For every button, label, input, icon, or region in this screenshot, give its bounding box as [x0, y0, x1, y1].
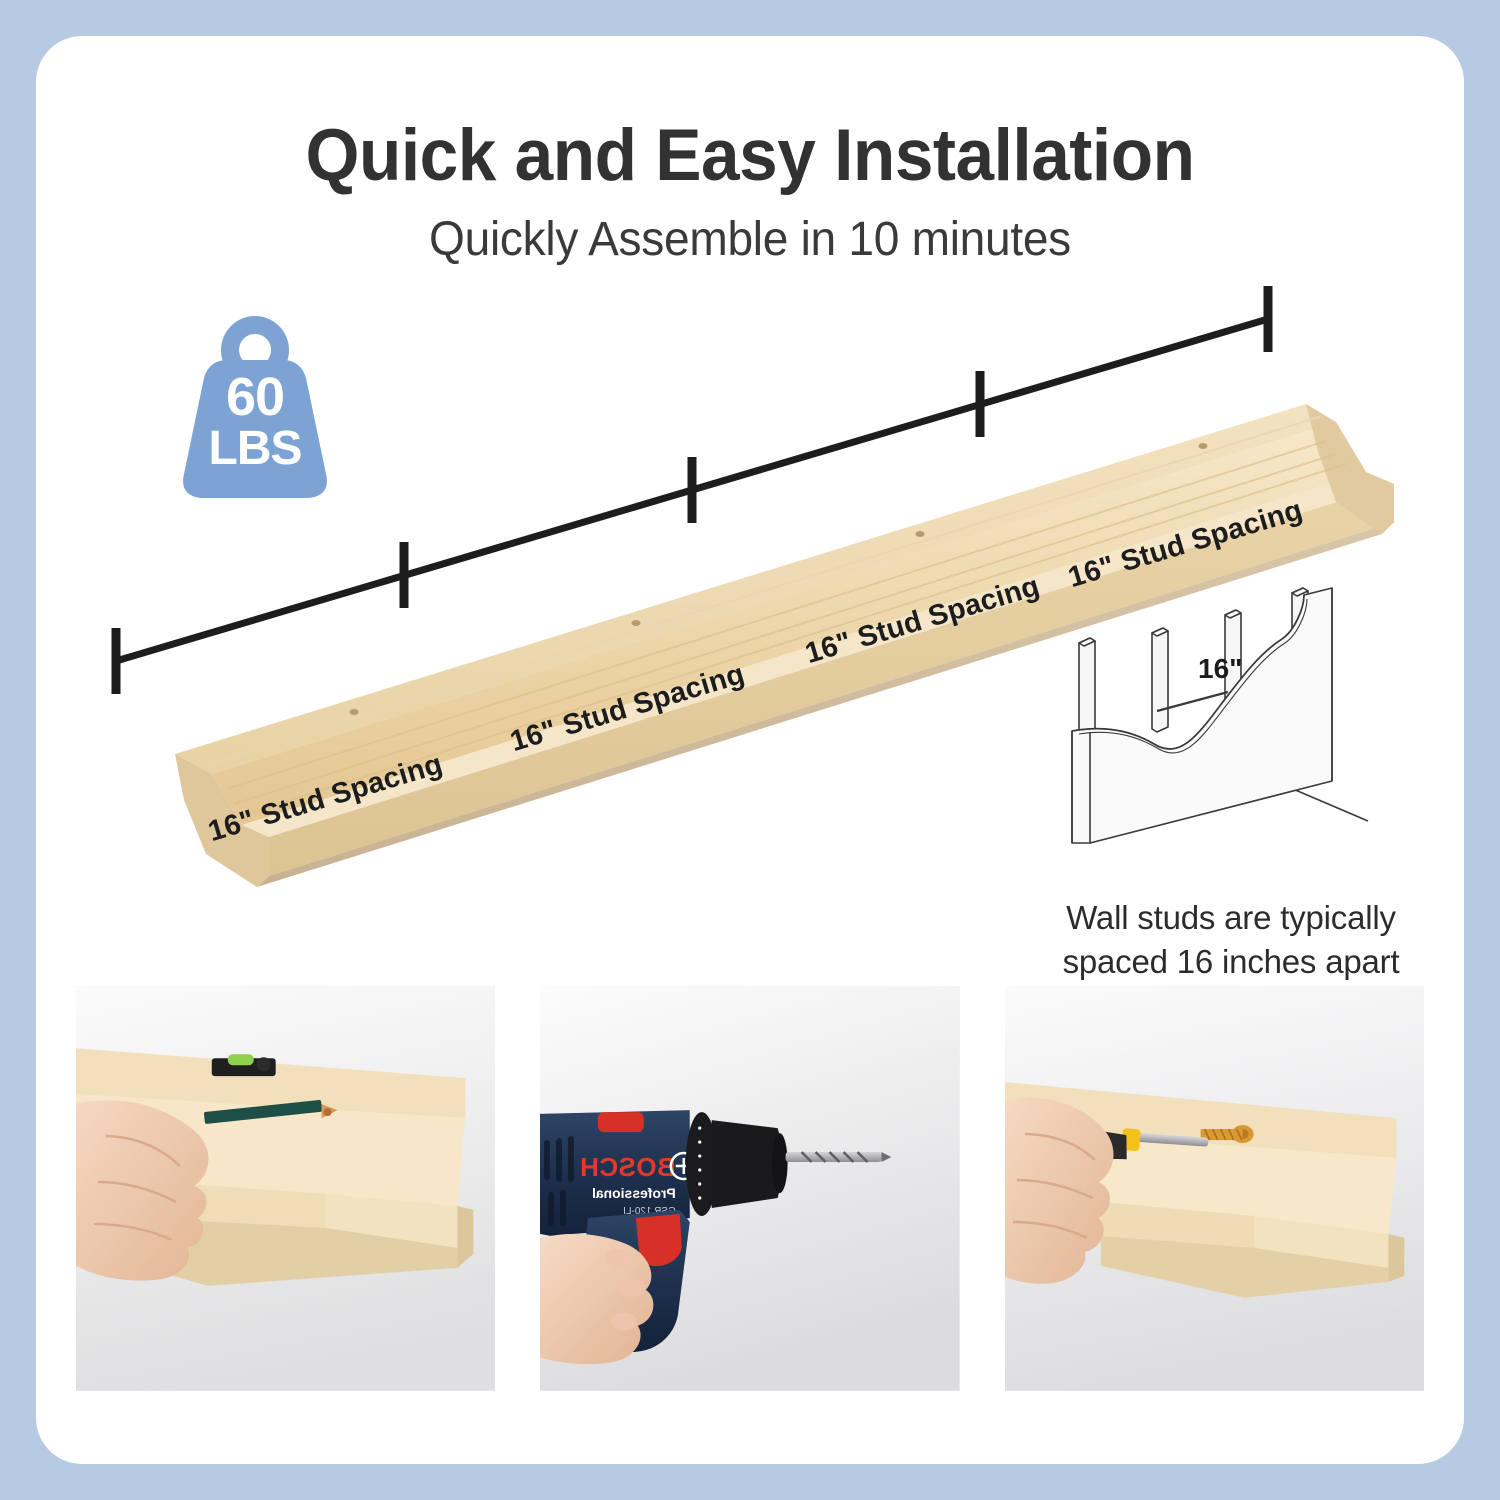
step-photo-drill-pilot-hole: BOSCH Professional GSR 120-LI: [540, 986, 959, 1391]
wall-stud: [1152, 628, 1168, 732]
page-subtitle: Quickly Assemble in 10 minutes: [65, 212, 1436, 267]
stud-caption-line-2: spaced 16 inches apart: [1021, 940, 1441, 984]
hand: [76, 1100, 208, 1280]
svg-text:BOSCH: BOSCH: [580, 1154, 676, 1182]
drywall-sheet: [1072, 588, 1332, 843]
wall-stud-diagram: 16": [1046, 581, 1406, 881]
stud-caption-line-1: Wall studs are typically: [1021, 896, 1441, 940]
svg-text:Professional: Professional: [592, 1185, 676, 1201]
stud-diagram-caption: Wall studs are typically spaced 16 inche…: [1021, 896, 1441, 983]
installation-steps-strip: BOSCH Professional GSR 120-LI: [76, 986, 1424, 1391]
page-title: Quick and Easy Installation: [72, 114, 1429, 197]
step-photo-drive-screw-with-screwdriver: [1005, 986, 1424, 1391]
stud-measure-label: 16": [1198, 653, 1242, 685]
wall-stud: [1079, 638, 1095, 738]
hand: [540, 1234, 653, 1364]
step-photo-mark-with-level-and-pencil: [76, 986, 495, 1391]
content-card: Quick and Easy Installation Quickly Asse…: [36, 36, 1464, 1464]
infographic-root: Quick and Easy Installation Quickly Asse…: [0, 0, 1500, 1500]
